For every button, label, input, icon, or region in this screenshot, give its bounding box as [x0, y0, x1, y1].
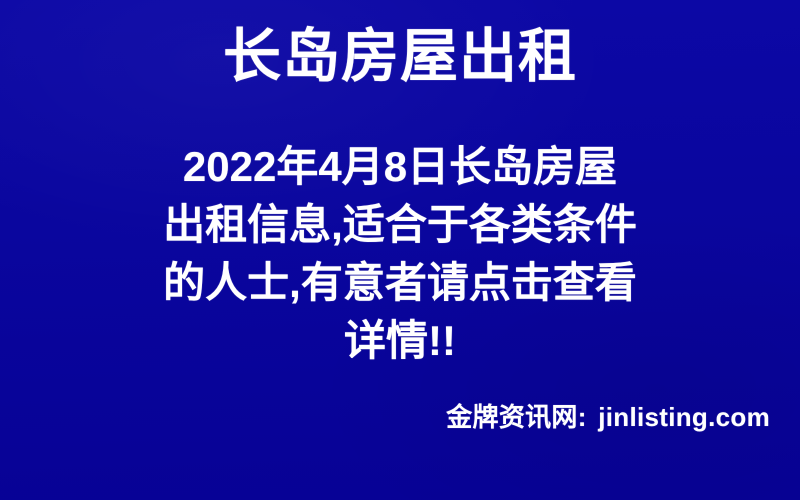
footer-watermark: 金牌资讯网: jinlisting.com — [446, 402, 770, 432]
site-url-label: jinlisting.com — [598, 402, 770, 432]
poster-canvas: 长岛房屋出租 2022年4月8日长岛房屋 出租信息,适合于各类条件 的人士,有意… — [0, 0, 800, 500]
body-line: 的人士,有意者请点击查看 — [100, 254, 700, 312]
body-line: 2022年4月8日长岛房屋 — [100, 138, 700, 196]
site-name-label: 金牌资讯网: — [446, 402, 586, 432]
page-title: 长岛房屋出租 — [0, 24, 800, 90]
body-line: 出租信息,适合于各类条件 — [100, 196, 700, 254]
body-copy: 2022年4月8日长岛房屋 出租信息,适合于各类条件 的人士,有意者请点击查看 … — [100, 138, 700, 370]
body-line: 详情!! — [100, 312, 700, 370]
